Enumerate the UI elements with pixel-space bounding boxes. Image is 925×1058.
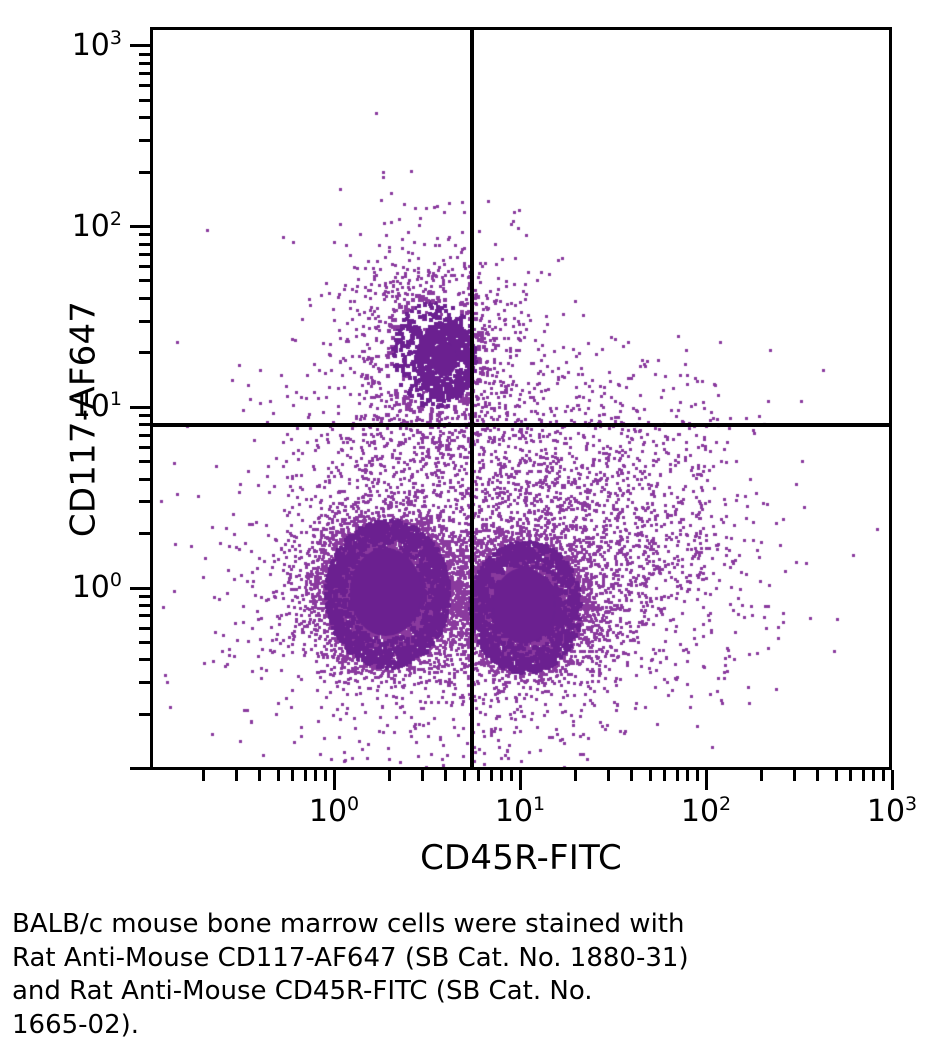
y-axis-tick <box>139 84 150 87</box>
x-axis-tick <box>574 770 577 781</box>
x-axis-tick <box>388 770 391 781</box>
y-axis-tick <box>139 460 150 463</box>
y-axis-tick <box>130 587 150 590</box>
y-axis-tick <box>139 414 150 417</box>
x-axis-tick <box>705 770 708 790</box>
x-axis-tick <box>872 770 875 781</box>
x-axis-tick <box>686 770 689 781</box>
y-axis-tick <box>139 139 150 142</box>
y-axis-tick <box>139 351 150 354</box>
x-axis-tick <box>696 770 699 781</box>
x-axis-tick <box>500 770 503 781</box>
y-axis-tick <box>139 320 150 323</box>
x-axis-tick <box>304 770 307 781</box>
y-axis-tick <box>130 44 150 47</box>
y-axis-tick <box>139 72 150 75</box>
y-axis-tick <box>139 279 150 282</box>
x-axis-tick <box>649 770 652 781</box>
x-axis-tick <box>277 770 280 781</box>
x-axis-tick <box>291 770 294 781</box>
y-axis-tick <box>139 681 150 684</box>
y-axis-tick <box>139 233 150 236</box>
y-axis-tick <box>139 253 150 256</box>
x-axis-tick <box>444 770 447 781</box>
y-axis-tick <box>139 297 150 300</box>
x-axis-tick <box>421 770 424 781</box>
x-axis-tick <box>630 770 633 781</box>
y-axis-tick <box>130 767 150 770</box>
y-axis-tick <box>139 614 150 617</box>
x-axis-tick <box>676 770 679 781</box>
y-axis-tick <box>139 116 150 119</box>
y-axis-tick <box>139 595 150 598</box>
y-axis-tick <box>139 53 150 56</box>
x-axis-tick <box>663 770 666 781</box>
y-axis-tick <box>139 658 150 661</box>
x-axis-tick-label: 102 <box>681 797 731 827</box>
x-axis-tick <box>314 770 317 781</box>
caption-line-4: 1665-02). <box>12 1009 792 1043</box>
y-axis-tick <box>139 713 150 716</box>
x-axis-tick <box>463 770 466 781</box>
x-axis-tick <box>849 770 852 781</box>
x-axis-title: CD45R-FITC <box>150 838 892 878</box>
x-axis-tick <box>477 770 480 781</box>
caption-line-2: Rat Anti-Mouse CD117-AF647 (SB Cat. No. … <box>12 942 792 976</box>
y-axis-tick <box>139 265 150 268</box>
y-axis-tick <box>139 99 150 102</box>
x-axis-tick-label: 100 <box>309 797 359 827</box>
x-axis-tick <box>202 770 205 781</box>
x-axis-tick-label: 103 <box>867 797 917 827</box>
x-axis-tick <box>835 770 838 781</box>
quadrant-gate-horizontal[interactable] <box>153 423 889 427</box>
y-axis-tick <box>139 434 150 437</box>
caption-line-3: and Rat Anti-Mouse CD45R-FITC (SB Cat. N… <box>12 975 792 1009</box>
x-axis-tick <box>510 770 513 781</box>
x-axis-tick <box>891 770 894 790</box>
y-axis-tick <box>139 500 150 503</box>
x-axis-tick-label: 101 <box>495 797 545 827</box>
x-axis-tick <box>519 770 522 790</box>
caption-line-1: BALB/c mouse bone marrow cells were stai… <box>12 908 792 942</box>
scatter-plot-area <box>150 27 892 770</box>
x-axis-tick <box>490 770 493 781</box>
x-axis-tick <box>258 770 261 781</box>
y-axis-tick <box>130 225 150 228</box>
quadrant-gate-vertical[interactable] <box>470 30 474 767</box>
y-axis-tick <box>139 423 150 426</box>
y-axis-tick <box>139 532 150 535</box>
x-axis-tick <box>235 770 238 781</box>
x-axis-tick <box>760 770 763 781</box>
y-axis-title: CD117-AF647 <box>64 48 104 791</box>
x-axis-tick <box>324 770 327 781</box>
x-axis-tick <box>882 770 885 781</box>
y-axis-tick <box>139 604 150 607</box>
y-axis-tick <box>139 243 150 246</box>
x-axis-tick <box>607 770 610 781</box>
scatter-dots-layer <box>153 30 889 767</box>
y-axis-tick <box>139 478 150 481</box>
y-axis-tick <box>139 446 150 449</box>
x-axis-tick <box>816 770 819 781</box>
x-axis-tick <box>333 770 336 790</box>
x-axis-tick <box>793 770 796 781</box>
y-axis-tick <box>139 62 150 65</box>
figure-caption: BALB/c mouse bone marrow cells were stai… <box>12 908 792 1042</box>
y-axis-tick <box>139 627 150 630</box>
x-axis-tick <box>862 770 865 781</box>
flow-cytometry-figure: 100101102103100101102103 CD45R-FITC CD11… <box>0 0 925 900</box>
y-axis-tick <box>139 641 150 644</box>
y-axis-tick <box>139 171 150 174</box>
y-axis-tick <box>130 406 150 409</box>
